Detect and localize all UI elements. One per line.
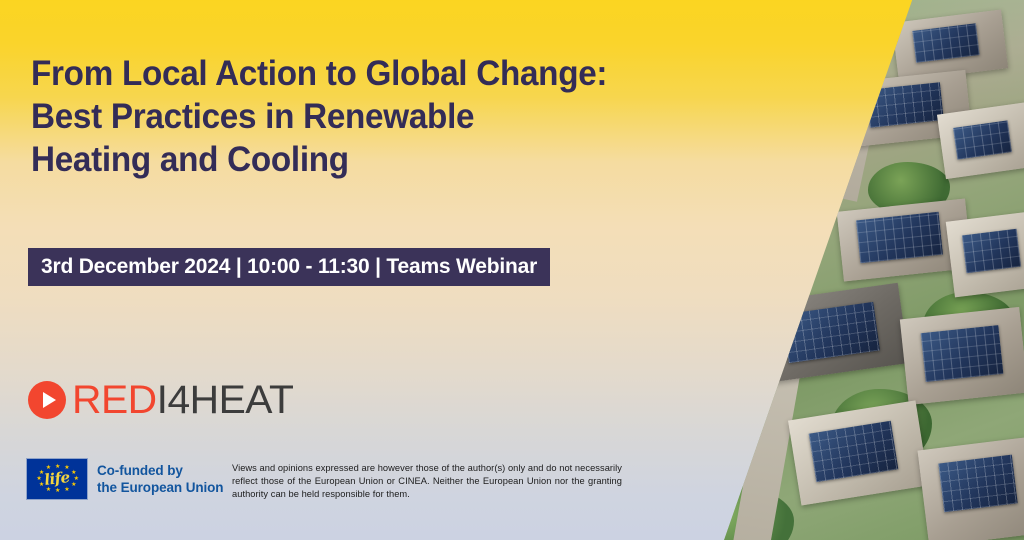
webinar-promo-banner: From Local Action to Global Change: Best… bbox=[0, 0, 1024, 540]
play-triangle-icon bbox=[43, 392, 56, 408]
eu-star-icon: ★ bbox=[55, 465, 59, 469]
play-circle-icon bbox=[28, 381, 66, 419]
eu-star-icon: ★ bbox=[46, 488, 50, 492]
title-line-1: From Local Action to Global Change: bbox=[31, 52, 620, 95]
eu-star-icon: ★ bbox=[64, 466, 68, 470]
eu-star-icon: ★ bbox=[71, 471, 75, 475]
eu-star-icon: ★ bbox=[36, 477, 40, 481]
event-datetime-badge: 3rd December 2024 | 10:00 - 11:30 | Team… bbox=[28, 248, 550, 286]
eu-disclaimer-text: Views and opinions expressed are however… bbox=[232, 462, 622, 501]
eu-star-icon: ★ bbox=[39, 471, 43, 475]
eu-funding-line-1: Co-funded by bbox=[97, 462, 223, 479]
page-title: From Local Action to Global Change: Best… bbox=[31, 52, 620, 181]
content-layer: From Local Action to Global Change: Best… bbox=[0, 0, 1024, 540]
eu-star-icon: ★ bbox=[74, 477, 78, 481]
eu-funding-line-2: the European Union bbox=[97, 479, 223, 496]
eu-star-icon: ★ bbox=[46, 466, 50, 470]
logo-word-red: RED bbox=[72, 378, 157, 422]
title-line-3: Heating and Cooling bbox=[31, 138, 620, 181]
eu-star-icon: ★ bbox=[71, 483, 75, 487]
eu-star-icon: ★ bbox=[39, 483, 43, 487]
redi4heat-logo: REDI4HEAT bbox=[28, 380, 289, 420]
eu-star-icon: ★ bbox=[64, 488, 68, 492]
life-wordmark: life bbox=[43, 470, 70, 488]
redi4heat-wordmark: REDI4HEAT bbox=[72, 380, 293, 420]
eu-funding-text: Co-funded by the European Union bbox=[97, 462, 223, 496]
logo-word-heat: I4HEAT bbox=[157, 378, 294, 422]
eu-funding-block: life ★★★★★★★★★★★★ Co-funded by the Europ… bbox=[26, 458, 223, 500]
eu-star-icon: ★ bbox=[55, 489, 59, 493]
eu-flag-icon: life ★★★★★★★★★★★★ bbox=[26, 458, 88, 500]
title-line-2: Best Practices in Renewable bbox=[31, 95, 620, 138]
